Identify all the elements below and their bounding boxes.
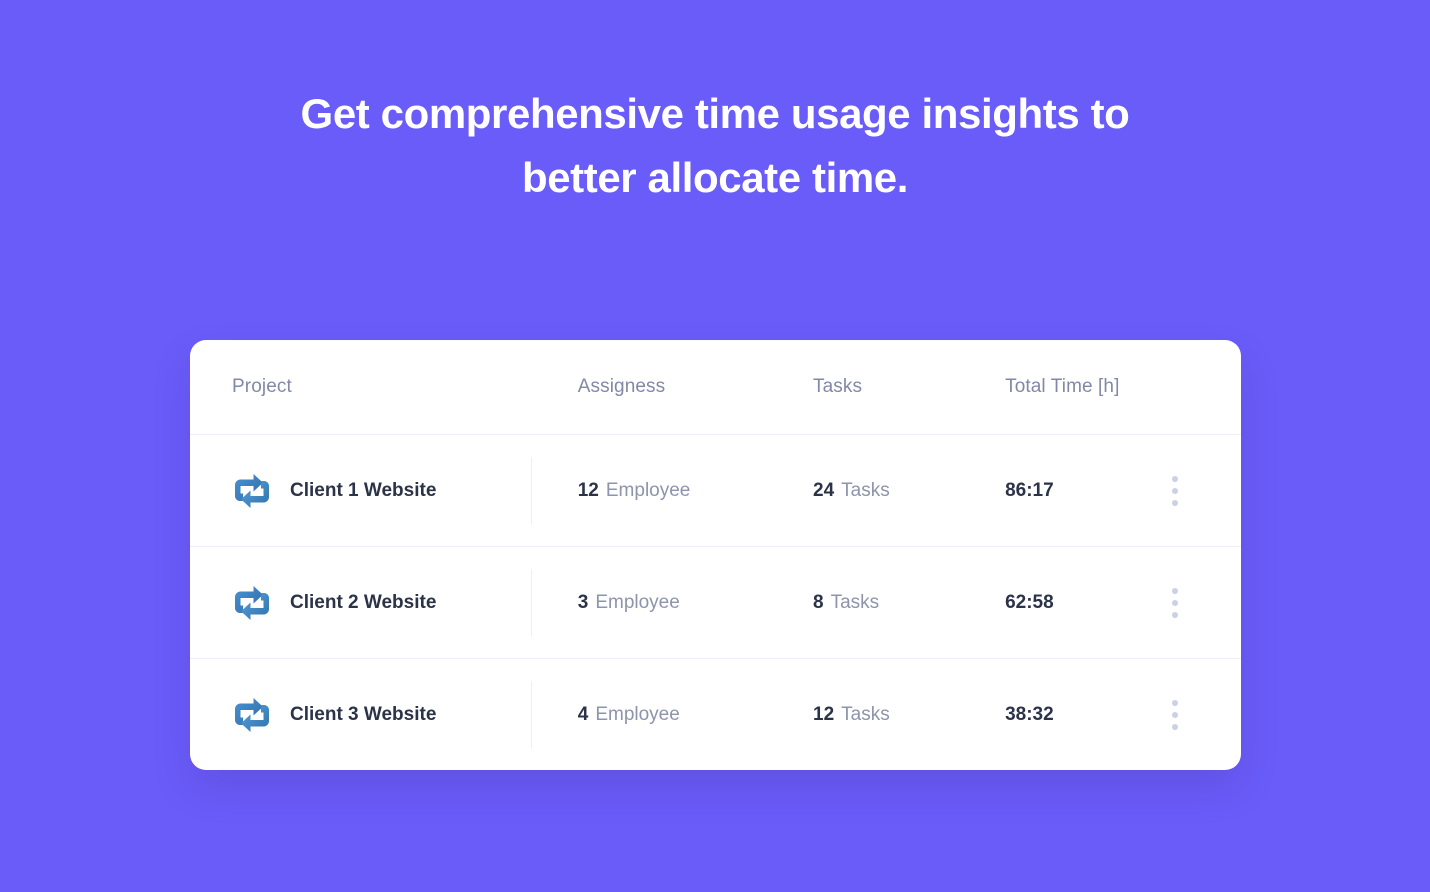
column-header-assigness: Assigness bbox=[578, 376, 813, 398]
azure-devops-icon bbox=[232, 583, 272, 623]
cell-assigness: 3Employee bbox=[578, 592, 813, 614]
column-header-total-time: Total Time [h] bbox=[1005, 376, 1149, 398]
tasks-unit: Tasks bbox=[841, 480, 890, 501]
cell-tasks: 24Tasks bbox=[813, 480, 1005, 502]
cell-total-time: 38:32 bbox=[1005, 704, 1149, 726]
table-body: Client 1 Website 12Employee 24Tasks 86:1… bbox=[190, 434, 1241, 770]
column-header-tasks: Tasks bbox=[813, 376, 1005, 398]
project-name: Client 2 Website bbox=[290, 592, 436, 614]
table-header-row: Project Assigness Tasks Total Time [h] bbox=[190, 340, 1241, 434]
assigness-count: 12 bbox=[578, 480, 599, 501]
cell-actions[interactable] bbox=[1149, 588, 1201, 618]
tasks-count: 8 bbox=[813, 592, 824, 613]
azure-devops-icon bbox=[232, 695, 272, 735]
total-time-value: 62:58 bbox=[1005, 592, 1054, 613]
cell-project: Client 1 Website bbox=[232, 471, 578, 511]
projects-card: Project Assigness Tasks Total Time [h] bbox=[190, 340, 1241, 770]
tasks-count: 12 bbox=[813, 704, 834, 725]
total-time-value: 38:32 bbox=[1005, 704, 1054, 725]
table-row[interactable]: Client 3 Website 4Employee 12Tasks 38:32 bbox=[190, 658, 1241, 770]
cell-project: Client 3 Website bbox=[232, 695, 578, 735]
column-header-project: Project bbox=[232, 376, 578, 398]
page-headline: Get comprehensive time usage insights to… bbox=[0, 82, 1430, 210]
assigness-count: 3 bbox=[578, 592, 589, 613]
cell-actions[interactable] bbox=[1149, 476, 1201, 506]
cell-project: Client 2 Website bbox=[232, 583, 578, 623]
azure-devops-icon bbox=[232, 471, 272, 511]
cell-actions[interactable] bbox=[1149, 700, 1201, 730]
project-name: Client 1 Website bbox=[290, 480, 436, 502]
cell-assigness: 12Employee bbox=[578, 480, 813, 502]
assigness-unit: Employee bbox=[595, 704, 680, 725]
cell-total-time: 62:58 bbox=[1005, 592, 1149, 614]
table-row[interactable]: Client 1 Website 12Employee 24Tasks 86:1… bbox=[190, 434, 1241, 546]
table-row[interactable]: Client 2 Website 3Employee 8Tasks 62:58 bbox=[190, 546, 1241, 658]
kebab-menu-icon[interactable] bbox=[1172, 700, 1178, 730]
assigness-count: 4 bbox=[578, 704, 589, 725]
tasks-unit: Tasks bbox=[831, 592, 880, 613]
cell-tasks: 8Tasks bbox=[813, 592, 1005, 614]
total-time-value: 86:17 bbox=[1005, 480, 1054, 501]
assigness-unit: Employee bbox=[595, 592, 680, 613]
project-name: Client 3 Website bbox=[290, 704, 436, 726]
projects-table: Project Assigness Tasks Total Time [h] bbox=[190, 340, 1241, 770]
kebab-menu-icon[interactable] bbox=[1172, 588, 1178, 618]
kebab-menu-icon[interactable] bbox=[1172, 476, 1178, 506]
assigness-unit: Employee bbox=[606, 480, 691, 501]
tasks-unit: Tasks bbox=[841, 704, 890, 725]
cell-assigness: 4Employee bbox=[578, 704, 813, 726]
cell-tasks: 12Tasks bbox=[813, 704, 1005, 726]
cell-total-time: 86:17 bbox=[1005, 480, 1149, 502]
tasks-count: 24 bbox=[813, 480, 834, 501]
